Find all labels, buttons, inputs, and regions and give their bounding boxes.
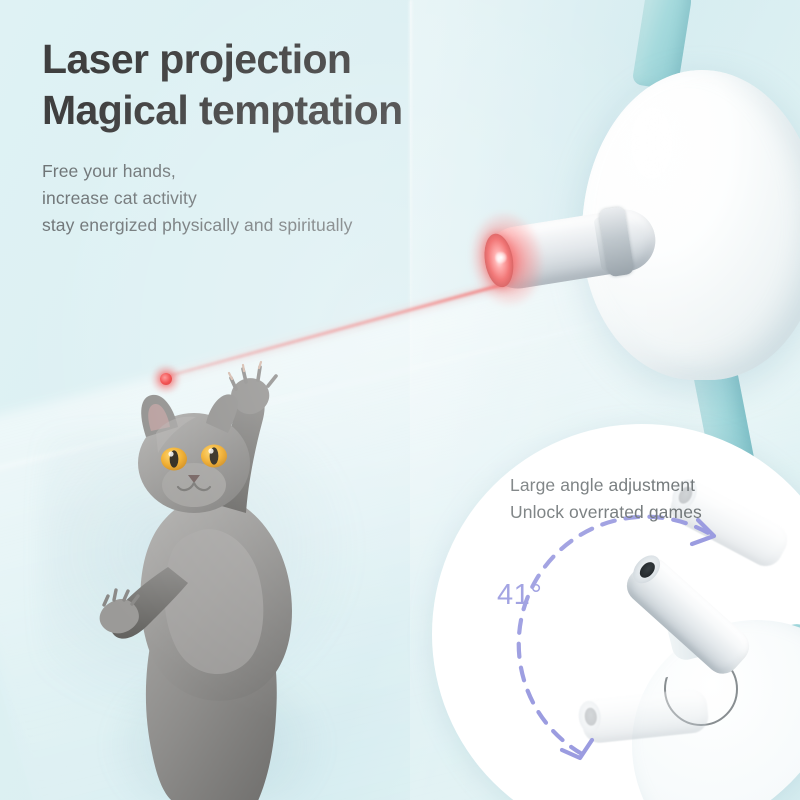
angle-value-label: 41° [497, 579, 542, 612]
cat-illustration [60, 355, 390, 800]
headline: Laser projection Magical temptation [42, 34, 542, 136]
laser-lens-sparkle [494, 250, 509, 265]
laser-projector-device [470, 0, 800, 460]
rotation-arc-dashed [519, 517, 710, 754]
copy-block: Laser projection Magical temptation Free… [42, 34, 542, 239]
angle-detail-inset: Large angle adjustment Unlock overrated … [432, 424, 800, 800]
product-banner: Laser projection Magical temptation Free… [0, 0, 800, 800]
inset-title: Large angle adjustment Unlock overrated … [510, 472, 800, 526]
subheadline: Free your hands, increase cat activity s… [42, 158, 542, 239]
cat-svg [60, 355, 390, 800]
